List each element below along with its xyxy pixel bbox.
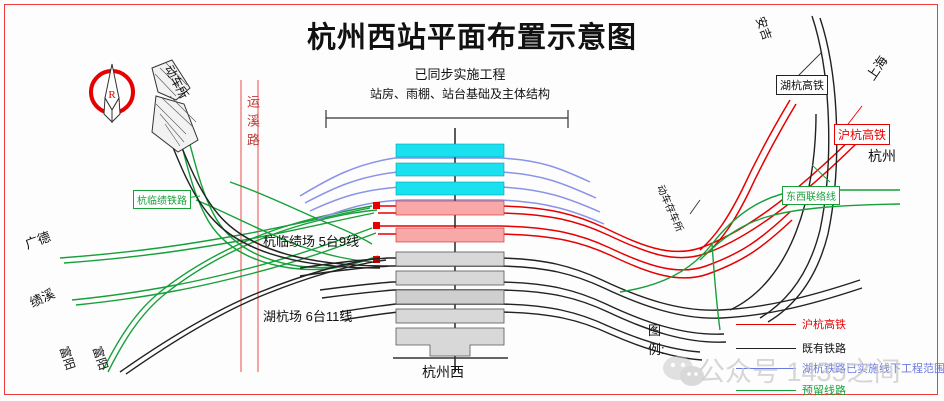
red-line-stub-markers bbox=[373, 202, 380, 263]
page-title: 杭州西站平面布置示意图 bbox=[0, 14, 944, 56]
watermark-text: 公众号 1435之间 bbox=[698, 350, 901, 389]
railway-logo-icon: R bbox=[82, 58, 142, 128]
legend-label-0: 沪杭高铁 bbox=[802, 316, 846, 332]
label-hanglinji-railway: 杭临绩铁路 bbox=[133, 190, 191, 209]
legend-item-0: 沪杭高铁 bbox=[736, 316, 846, 332]
label-yunxi-road: 运溪路 bbox=[243, 95, 262, 152]
scope-dimension-bracket bbox=[326, 110, 568, 128]
label-hangzhou: 杭州 bbox=[868, 146, 896, 166]
label-east-west-link: 东西联络线 bbox=[782, 186, 840, 205]
label-station-name: 杭州西 bbox=[422, 362, 464, 382]
platform-group-cyan bbox=[396, 144, 504, 195]
scope-subtitle-line1: 已同步实施工程 bbox=[330, 64, 590, 83]
legend-swatch-green bbox=[736, 390, 796, 391]
label-hanglinji-yard: 杭临绩场 5台9线 bbox=[263, 231, 359, 250]
label-huhang-hsr: 湖杭高铁 bbox=[776, 75, 828, 95]
green-reserved-lines bbox=[60, 130, 378, 372]
label-huhang-yard: 湖杭场 6台11线 bbox=[263, 306, 352, 325]
scope-subtitle-line2: 站房、雨棚、站台基础及主体结构 bbox=[320, 85, 600, 102]
platform-group-gray bbox=[396, 252, 504, 356]
label-huhang-hsr-red: 沪杭高铁 bbox=[834, 124, 890, 145]
diagram-canvas: R 杭州西站平面布置示意图 已同步实施工程 站房、雨棚、站台基础及主体结构 动车… bbox=[0, 0, 944, 401]
green-east-lines bbox=[620, 190, 900, 330]
platform-group-pink bbox=[396, 201, 504, 242]
legend-swatch-red bbox=[736, 324, 796, 325]
svg-text:R: R bbox=[108, 89, 116, 101]
legend-swatch-black bbox=[736, 348, 796, 349]
